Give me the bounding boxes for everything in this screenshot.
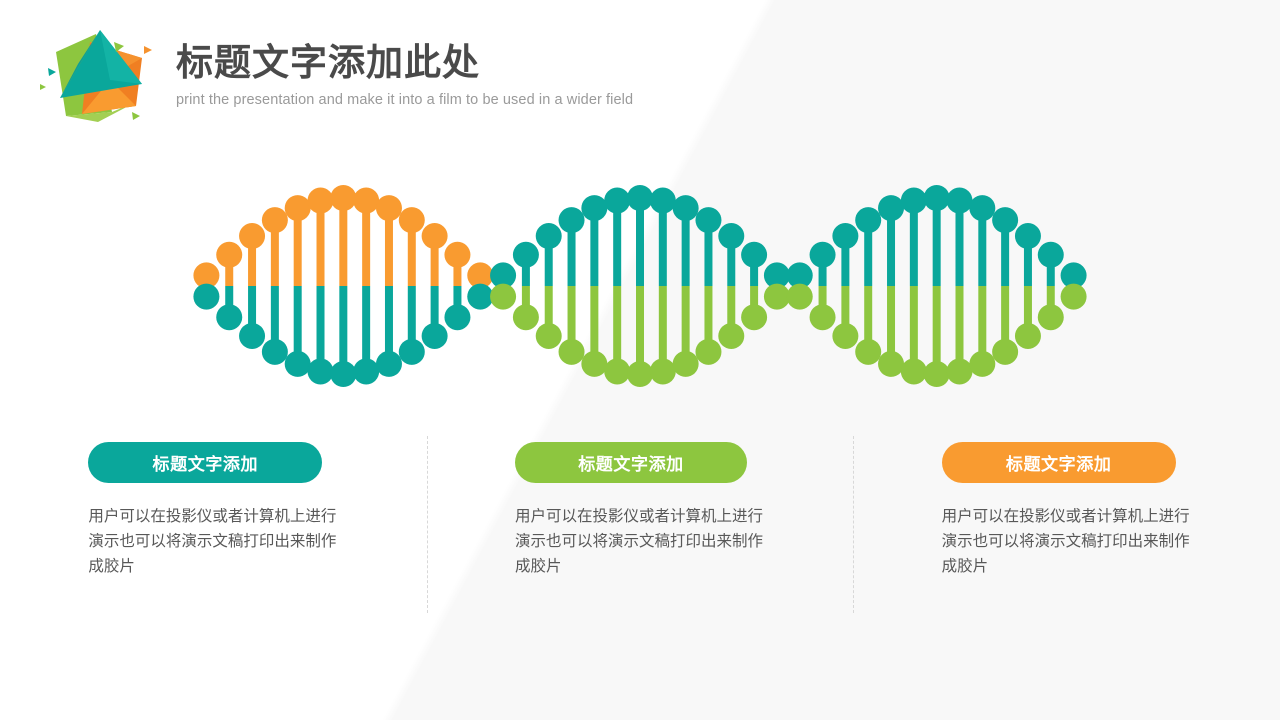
content-column-1: 标题文字添加 用户可以在投影仪或者计算机上进行演示也可以将演示文稿打印出来制作成… (0, 428, 427, 623)
content-columns: 标题文字添加 用户可以在投影仪或者计算机上进行演示也可以将演示文稿打印出来制作成… (0, 428, 1280, 623)
page-subtitle: print the presentation and make it into … (176, 92, 633, 108)
column-divider-2 (853, 436, 854, 613)
column-3-title-button[interactable]: 标题文字添加 (942, 442, 1176, 483)
content-column-3: 标题文字添加 用户可以在投影仪或者计算机上进行演示也可以将演示文稿打印出来制作成… (853, 428, 1280, 623)
page-title: 标题文字添加此处 (176, 42, 633, 83)
header-text-block: 标题文字添加此处 print the presentation and make… (176, 22, 633, 108)
slide-canvas: 标题文字添加此处 print the presentation and make… (0, 0, 1280, 720)
column-divider-1 (427, 436, 428, 613)
column-3-body-text: 用户可以在投影仪或者计算机上进行演示也可以将演示文稿打印出来制作成胶片 (942, 504, 1192, 579)
content-column-2: 标题文字添加 用户可以在投影仪或者计算机上进行演示也可以将演示文稿打印出来制作成… (427, 428, 854, 623)
column-1-title-button[interactable]: 标题文字添加 (88, 442, 322, 483)
dna-helix-svg (195, 178, 1085, 393)
origami-triangle-logo-icon (38, 24, 162, 124)
dna-helix-graphic (195, 178, 1085, 393)
slide-header: 标题文字添加此处 print the presentation and make… (38, 22, 633, 124)
column-2-body-text: 用户可以在投影仪或者计算机上进行演示也可以将演示文稿打印出来制作成胶片 (515, 504, 765, 579)
column-1-body-text: 用户可以在投影仪或者计算机上进行演示也可以将演示文稿打印出来制作成胶片 (88, 504, 338, 579)
column-2-title-button[interactable]: 标题文字添加 (515, 442, 747, 483)
